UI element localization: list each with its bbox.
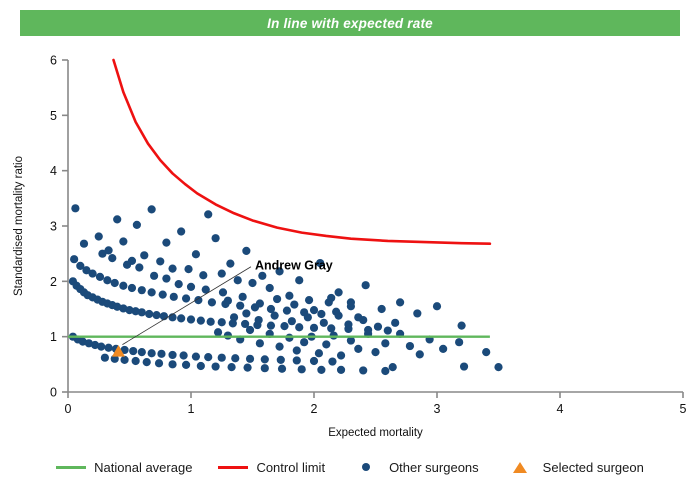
data-point-other-surgeon — [231, 354, 239, 362]
x-tick-label: 1 — [188, 402, 195, 416]
data-point-other-surgeon — [104, 344, 112, 352]
data-point-other-surgeon — [381, 339, 389, 347]
data-point-other-surgeon — [150, 272, 158, 280]
data-point-other-surgeon — [378, 305, 386, 313]
data-point-other-surgeon — [413, 309, 421, 317]
data-point-other-surgeon — [359, 366, 367, 374]
data-point-other-surgeon — [256, 299, 264, 307]
data-point-other-surgeon — [322, 340, 330, 348]
data-point-other-surgeon — [293, 346, 301, 354]
data-point-other-surgeon — [327, 294, 335, 302]
data-point-other-surgeon — [170, 293, 178, 301]
data-point-other-surgeon — [384, 326, 392, 334]
data-point-other-surgeon — [226, 260, 234, 268]
data-point-other-surgeon — [177, 314, 185, 322]
data-point-other-surgeon — [162, 274, 170, 282]
data-point-other-surgeon — [187, 315, 195, 323]
data-point-other-surgeon — [347, 298, 355, 306]
annotation-leader-line — [122, 267, 251, 345]
data-point-other-surgeon — [155, 359, 163, 367]
data-point-other-surgeon — [271, 312, 279, 320]
data-point-other-surgeon — [230, 313, 238, 321]
data-point-other-surgeon — [310, 306, 318, 314]
plot-canvas: 0123456012345Expected mortalityStandardi… — [0, 40, 700, 450]
data-point-other-surgeon — [218, 269, 226, 277]
data-point-other-surgeon — [119, 237, 127, 245]
data-point-other-surgeon — [458, 322, 466, 330]
data-point-other-surgeon — [310, 357, 318, 365]
data-point-other-surgeon — [204, 353, 212, 361]
data-point-other-surgeon — [140, 251, 148, 259]
x-tick-label: 5 — [680, 402, 687, 416]
data-point-other-surgeon — [168, 360, 176, 368]
data-point-other-surgeon — [129, 347, 137, 355]
data-point-other-surgeon — [455, 338, 463, 346]
legend-label: Other surgeons — [389, 460, 479, 475]
data-point-other-surgeon — [239, 293, 247, 301]
data-point-other-surgeon — [138, 348, 146, 356]
data-point-other-surgeon — [96, 273, 104, 281]
data-point-other-surgeon — [256, 339, 264, 347]
legend-label: Control limit — [256, 460, 325, 475]
data-point-other-surgeon — [273, 295, 281, 303]
data-point-other-surgeon — [275, 343, 283, 351]
data-point-other-surgeon — [95, 232, 103, 240]
y-tick-label: 6 — [50, 54, 57, 68]
data-point-other-surgeon — [317, 366, 325, 374]
data-point-other-surgeon — [119, 282, 127, 290]
data-point-other-surgeon — [187, 283, 195, 291]
data-point-other-surgeon — [278, 365, 286, 373]
data-point-other-surgeon — [168, 265, 176, 273]
legend-item-national-average[interactable]: National average — [56, 460, 192, 475]
data-point-other-surgeon — [148, 205, 156, 213]
data-point-other-surgeon — [152, 311, 160, 319]
data-point-other-surgeon — [317, 310, 325, 318]
data-point-other-surgeon — [192, 250, 200, 258]
data-point-other-surgeon — [246, 355, 254, 363]
data-point-other-surgeon — [148, 349, 156, 357]
data-point-other-surgeon — [182, 294, 190, 302]
data-point-other-surgeon — [207, 318, 215, 326]
data-point-other-surgeon — [128, 284, 136, 292]
data-point-other-surgeon — [214, 328, 222, 336]
data-point-other-surgeon — [197, 362, 205, 370]
x-tick-label: 3 — [434, 402, 441, 416]
data-point-other-surgeon — [391, 319, 399, 327]
data-point-other-surgeon — [439, 345, 447, 353]
data-point-other-surgeon — [344, 320, 352, 328]
data-point-other-surgeon — [261, 355, 269, 363]
data-point-other-surgeon — [243, 364, 251, 372]
data-point-other-surgeon — [138, 308, 146, 316]
data-point-other-surgeon — [298, 365, 306, 373]
data-point-other-surgeon — [156, 257, 164, 265]
y-tick-label: 2 — [50, 275, 57, 289]
data-point-other-surgeon — [120, 356, 128, 364]
data-point-other-surgeon — [180, 351, 188, 359]
circle-marker-icon — [362, 463, 370, 471]
data-point-other-surgeon — [80, 240, 88, 248]
data-point-other-surgeon — [108, 254, 116, 262]
data-point-other-surgeon — [290, 300, 298, 308]
data-point-other-surgeon — [310, 324, 318, 332]
y-tick-label: 5 — [50, 109, 57, 123]
line-icon — [218, 466, 248, 469]
data-point-other-surgeon — [98, 250, 106, 258]
data-point-other-surgeon — [101, 354, 109, 362]
data-point-other-surgeon — [143, 358, 151, 366]
data-point-other-surgeon — [300, 338, 308, 346]
data-point-other-surgeon — [295, 323, 303, 331]
y-tick-label: 1 — [50, 330, 57, 344]
data-point-other-surgeon — [212, 234, 220, 242]
data-point-other-surgeon — [236, 302, 244, 310]
data-point-other-surgeon — [175, 280, 183, 288]
data-point-other-surgeon — [258, 272, 266, 280]
legend-item-selected-surgeon[interactable]: Selected surgeon — [505, 460, 644, 475]
data-point-other-surgeon — [267, 322, 275, 330]
data-point-other-surgeon — [103, 276, 111, 284]
line-icon — [56, 466, 86, 469]
x-tick-label: 4 — [557, 402, 564, 416]
data-point-other-surgeon — [212, 362, 220, 370]
y-axis-title: Standardised mortality ratio — [13, 156, 25, 296]
data-point-other-surgeon — [362, 281, 370, 289]
data-point-other-surgeon — [242, 247, 250, 255]
x-tick-label: 2 — [311, 402, 318, 416]
data-point-other-surgeon — [389, 363, 397, 371]
data-point-other-surgeon — [406, 342, 414, 350]
data-point-other-surgeon — [234, 276, 242, 284]
data-point-other-surgeon — [328, 357, 336, 365]
data-point-other-surgeon — [460, 362, 468, 370]
data-point-other-surgeon — [335, 288, 343, 296]
data-point-other-surgeon — [177, 227, 185, 235]
y-tick-label: 0 — [50, 386, 57, 400]
legend-label: Selected surgeon — [543, 460, 644, 475]
data-point-other-surgeon — [159, 291, 167, 299]
data-point-other-surgeon — [374, 323, 382, 331]
data-point-other-surgeon — [157, 350, 165, 358]
data-point-other-surgeon — [182, 361, 190, 369]
data-point-other-surgeon — [288, 317, 296, 325]
triangle-marker-icon — [513, 462, 527, 473]
data-point-other-surgeon — [332, 308, 340, 316]
chart-title-banner: In line with expected rate — [20, 10, 680, 36]
data-point-other-surgeon — [219, 288, 227, 296]
data-point-other-surgeon — [192, 352, 200, 360]
data-point-other-surgeon — [227, 363, 235, 371]
chart-title: In line with expected rate — [267, 16, 433, 31]
data-point-other-surgeon — [208, 298, 216, 306]
data-point-other-surgeon — [337, 351, 345, 359]
data-point-other-surgeon — [315, 349, 323, 357]
data-point-other-surgeon — [199, 271, 207, 279]
data-point-other-surgeon — [218, 354, 226, 362]
data-point-other-surgeon — [162, 239, 170, 247]
x-axis-title: Expected mortality — [328, 427, 423, 439]
data-point-other-surgeon — [242, 309, 250, 317]
data-point-other-surgeon — [285, 292, 293, 300]
data-point-other-surgeon — [266, 284, 274, 292]
y-tick-label: 3 — [50, 220, 57, 234]
data-point-other-surgeon — [204, 210, 212, 218]
chart-legend: National averageControl limitOther surge… — [0, 452, 700, 482]
data-point-other-surgeon — [89, 269, 97, 277]
legend-item-other-surgeons[interactable]: Other surgeons — [351, 460, 479, 475]
data-point-other-surgeon — [277, 356, 285, 364]
data-point-other-surgeon — [135, 263, 143, 271]
data-point-other-surgeon — [71, 204, 79, 212]
data-point-other-surgeon — [138, 286, 146, 294]
data-point-other-surgeon — [248, 279, 256, 287]
data-point-other-surgeon — [145, 310, 153, 318]
data-point-other-surgeon — [246, 326, 254, 334]
funnel-plot: 0123456012345Expected mortalityStandardi… — [0, 40, 700, 450]
data-point-other-surgeon — [197, 317, 205, 325]
data-point-other-surgeon — [396, 298, 404, 306]
data-point-other-surgeon — [320, 319, 328, 327]
data-point-other-surgeon — [304, 313, 312, 321]
data-point-other-surgeon — [280, 322, 288, 330]
data-point-other-surgeon — [295, 276, 303, 284]
data-point-other-surgeon — [327, 324, 335, 332]
data-point-other-surgeon — [133, 221, 141, 229]
data-point-other-surgeon — [70, 255, 78, 263]
data-point-other-surgeon — [111, 279, 119, 287]
data-point-other-surgeon — [359, 316, 367, 324]
data-point-other-surgeon — [184, 265, 192, 273]
data-point-other-surgeon — [381, 367, 389, 375]
data-point-other-surgeon — [97, 343, 105, 351]
data-point-other-surgeon — [218, 318, 226, 326]
data-point-other-surgeon — [433, 302, 441, 310]
data-point-other-surgeon — [482, 348, 490, 356]
data-point-other-surgeon — [113, 215, 121, 223]
legend-label: National average — [94, 460, 192, 475]
data-point-other-surgeon — [416, 350, 424, 358]
control-limit-curve — [114, 60, 490, 244]
data-point-other-surgeon — [354, 345, 362, 353]
y-tick-label: 4 — [50, 164, 57, 178]
data-point-other-surgeon — [337, 366, 345, 374]
data-point-other-surgeon — [168, 351, 176, 359]
legend-item-control-limit[interactable]: Control limit — [218, 460, 325, 475]
data-point-other-surgeon — [371, 348, 379, 356]
data-point-other-surgeon — [494, 363, 502, 371]
data-point-other-surgeon — [224, 297, 232, 305]
data-point-other-surgeon — [148, 288, 156, 296]
x-tick-label: 0 — [65, 402, 72, 416]
data-point-other-surgeon — [283, 307, 291, 315]
data-point-other-surgeon — [255, 316, 263, 324]
data-point-other-surgeon — [293, 356, 301, 364]
data-point-other-surgeon — [261, 364, 269, 372]
data-point-other-surgeon — [123, 261, 131, 269]
annotation-label: Andrew Gray — [255, 259, 333, 273]
data-point-other-surgeon — [132, 357, 140, 365]
data-point-other-surgeon — [305, 296, 313, 304]
